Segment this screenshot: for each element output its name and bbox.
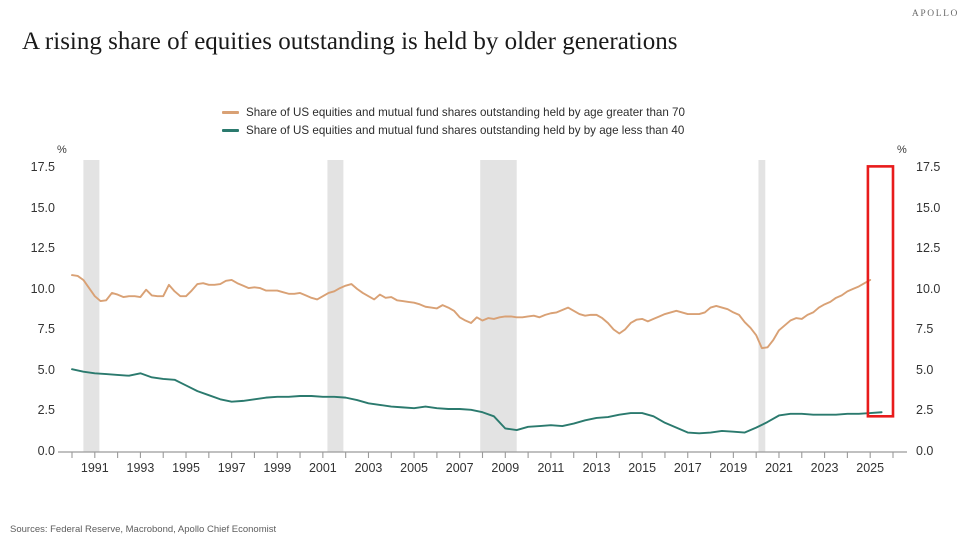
x-axis-label: 1997 [218, 461, 246, 475]
x-axis-label: 2005 [400, 461, 428, 475]
x-axis-label: 1991 [81, 461, 109, 475]
x-axis-label: 2015 [628, 461, 656, 475]
x-axis-label: 2019 [719, 461, 747, 475]
y-axis-label-right: 15.0 [916, 201, 940, 215]
y-axis-label-right: 17.5 [916, 160, 940, 174]
y-axis-label-left: 10.0 [31, 282, 55, 296]
x-axis-label: 2013 [583, 461, 611, 475]
x-axis-label: 2017 [674, 461, 702, 475]
x-axis-label: 2025 [856, 461, 884, 475]
x-axis-label: 2001 [309, 461, 337, 475]
y-axis-label-left: 17.5 [31, 160, 55, 174]
x-axis-label: 2021 [765, 461, 793, 475]
y-axis-label-right: 10.0 [916, 282, 940, 296]
x-axis-label: 2023 [811, 461, 839, 475]
recession-band [758, 160, 765, 452]
y-axis-label-right: 12.5 [916, 241, 940, 255]
x-axis-label: 2003 [355, 461, 383, 475]
x-axis-label: 1993 [127, 461, 155, 475]
x-axis-label: 2009 [491, 461, 519, 475]
recession-band [83, 160, 99, 452]
y-axis-label-right: 5.0 [916, 363, 933, 377]
series-line-0 [72, 275, 870, 348]
y-axis-label-left: 2.5 [38, 403, 55, 417]
x-axis-label: 2011 [537, 461, 564, 475]
y-axis-label-right: 0.0 [916, 444, 933, 458]
recession-band [480, 160, 516, 452]
y-axis-label-left: 15.0 [31, 201, 55, 215]
y-axis-label-left: 7.5 [38, 322, 55, 336]
x-axis-label: 2007 [446, 461, 474, 475]
x-axis-label: 1995 [172, 461, 200, 475]
recession-band [327, 160, 343, 452]
y-axis-label-left: 12.5 [31, 241, 55, 255]
highlight-box [868, 166, 893, 416]
x-axis-label: 1999 [263, 461, 291, 475]
y-axis-label-right: 2.5 [916, 403, 933, 417]
y-axis-label-left: 0.0 [38, 444, 55, 458]
y-axis-label-left: 5.0 [38, 363, 55, 377]
y-axis-label-right: 7.5 [916, 322, 933, 336]
chart-source-note: Sources: Federal Reserve, Macrobond, Apo… [10, 524, 276, 535]
